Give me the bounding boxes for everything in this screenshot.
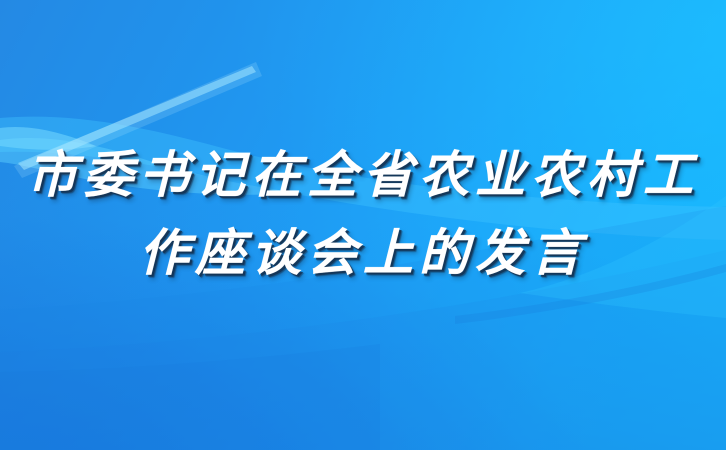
title-line-1: 市委书记在全省农业农村工	[0, 150, 726, 200]
banner-title: 市委书记在全省农业农村工 作座谈会上的发言	[0, 150, 726, 278]
title-banner: 市委书记在全省农业农村工 作座谈会上的发言	[0, 0, 726, 450]
title-line-2: 作座谈会上的发言	[0, 228, 726, 278]
